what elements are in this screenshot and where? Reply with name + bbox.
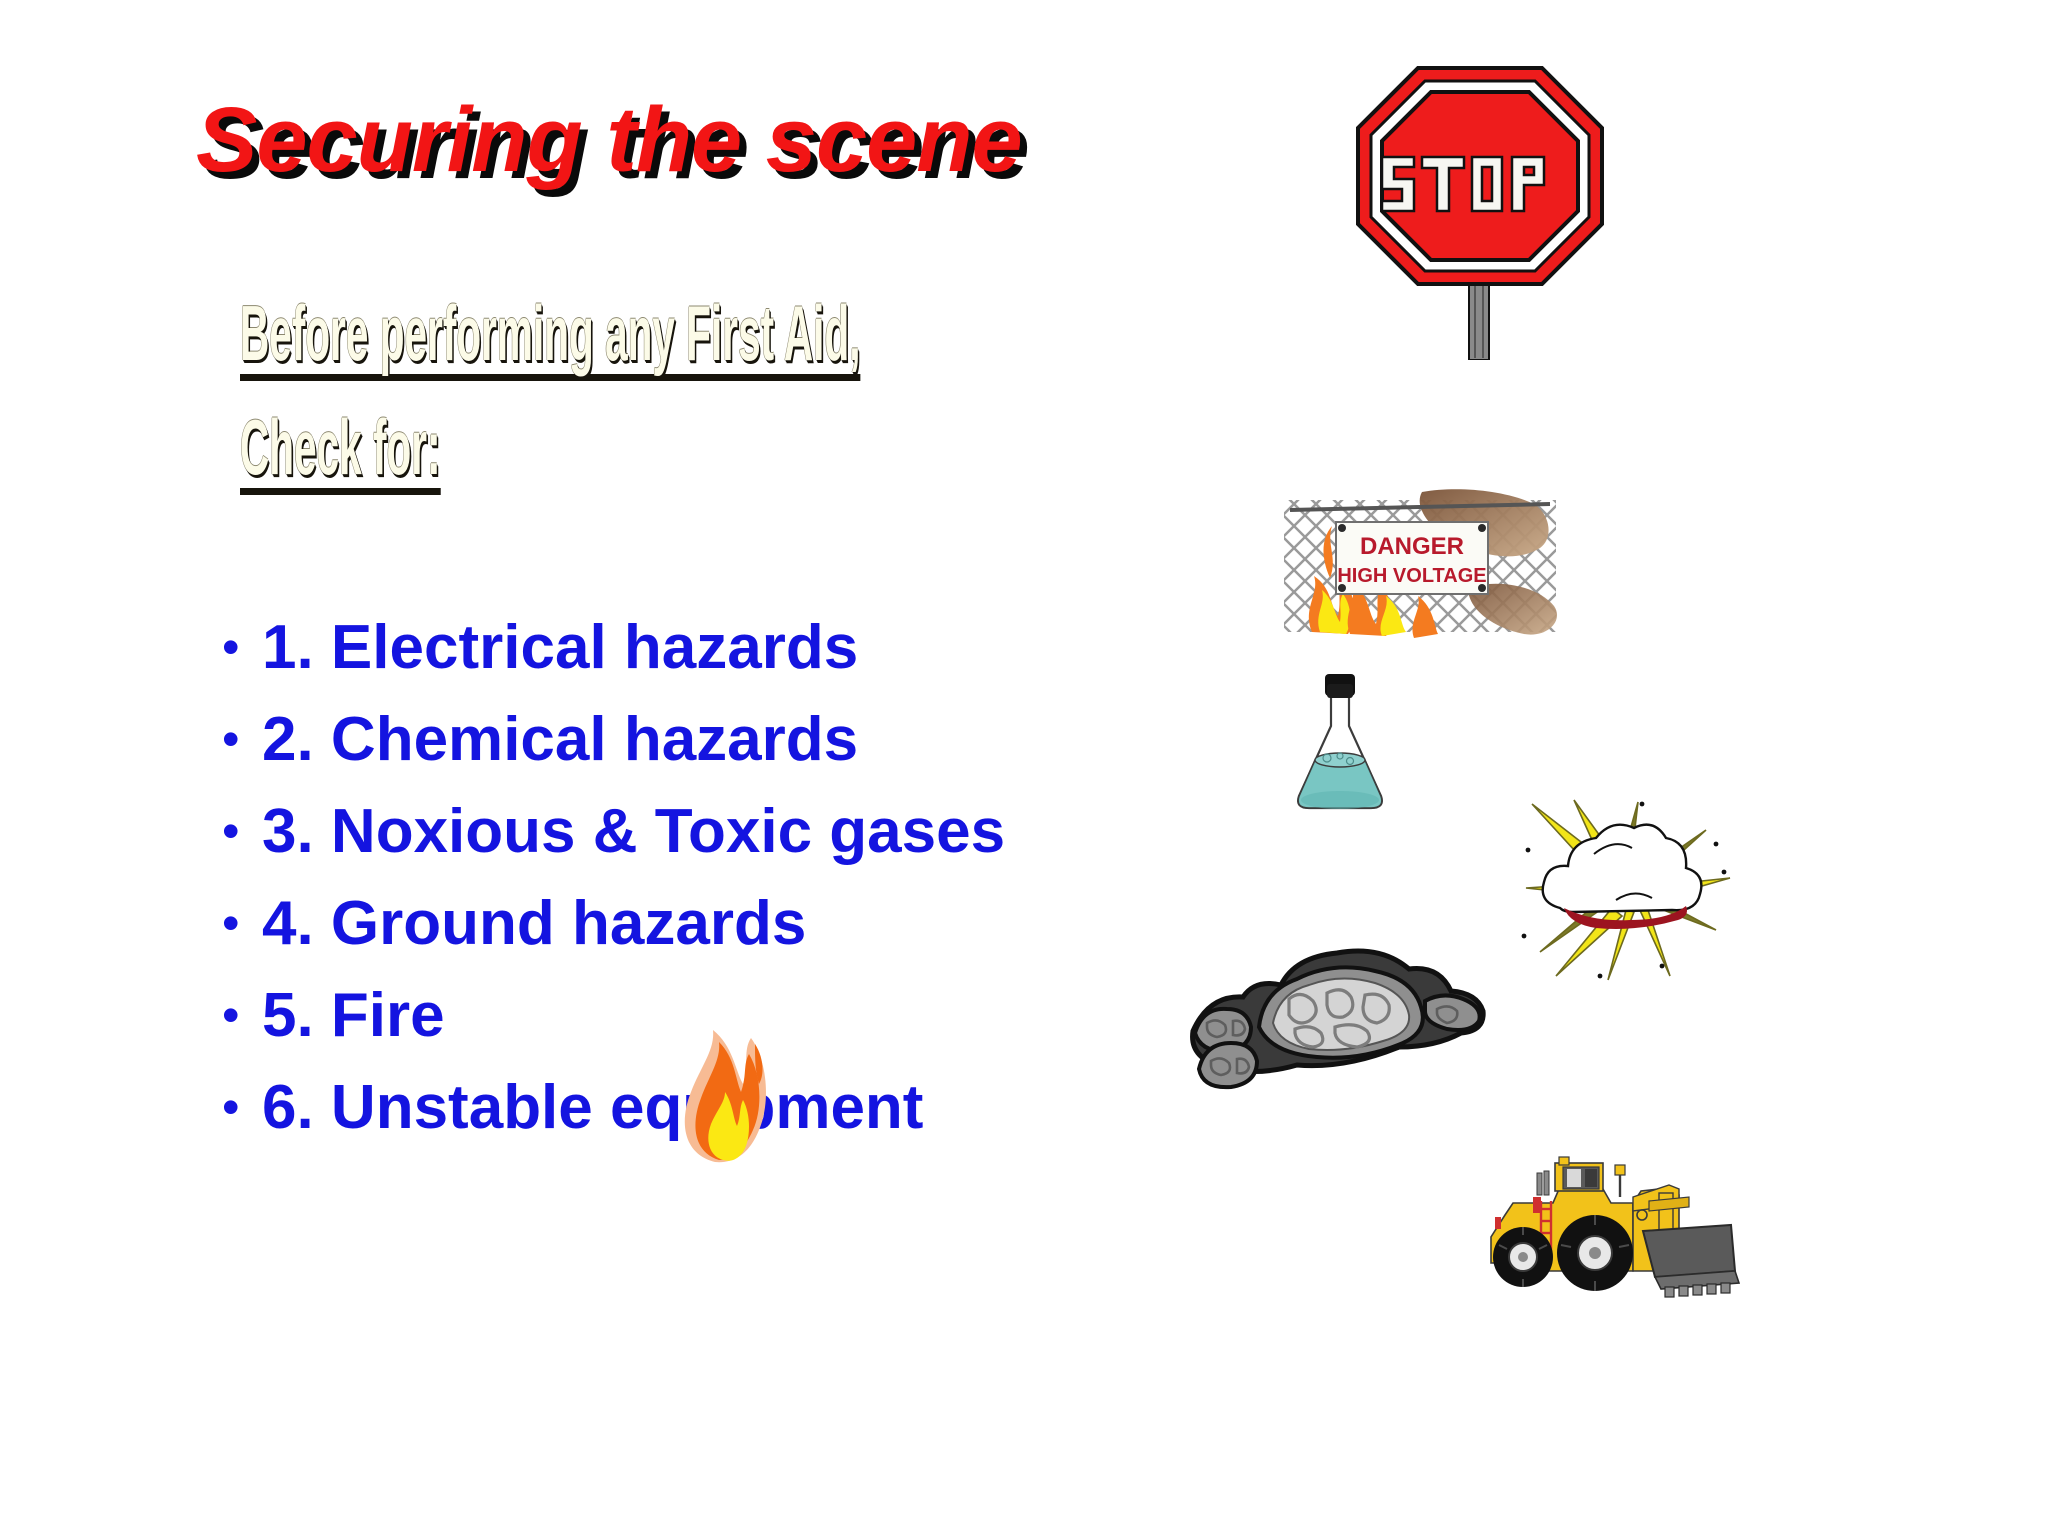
slide-canvas: Securing the scene Before performing any… <box>0 0 2048 1536</box>
subheading-line-1: Before performing any First Aid, <box>240 294 861 381</box>
wheel-loader-icon <box>1483 1145 1768 1305</box>
ground-hazard-rocks-icon <box>1185 935 1495 1095</box>
list-item: • 2. Chemical hazards <box>222 704 1262 796</box>
list-item-label: 3. Noxious & Toxic gases <box>262 796 1005 867</box>
bullet-dot-icon: • <box>222 990 262 1040</box>
bullet-dot-icon: • <box>222 898 262 948</box>
list-item-label: 6. Unstable equipment <box>262 1072 923 1143</box>
danger-line-2: HIGH VOLTAGE <box>1337 565 1486 587</box>
list-item-label: 2. Chemical hazards <box>262 704 858 775</box>
list-item-label: 4. Ground hazards <box>262 888 806 959</box>
list-item: • 1. Electrical hazards <box>222 612 1262 704</box>
list-item: • 3. Noxious & Toxic gases <box>222 796 1262 888</box>
fire-flame-icon <box>663 1030 778 1165</box>
stop-sign-icon <box>1330 40 1630 360</box>
danger-line-1: DANGER <box>1360 533 1464 560</box>
bullet-dot-icon: • <box>222 622 262 672</box>
bullet-dot-icon: • <box>222 1082 262 1132</box>
list-item-label: 1. Electrical hazards <box>262 612 858 683</box>
subheading-line-2: Check for: <box>240 408 441 495</box>
toxic-gas-cloud-icon <box>1520 790 1740 985</box>
danger-high-voltage-icon: DANGER HIGH VOLTAGE <box>1272 482 1572 652</box>
chemical-flask-icon <box>1285 668 1395 818</box>
bullet-dot-icon: • <box>222 714 262 764</box>
page-title: Securing the scene <box>196 88 1022 193</box>
bullet-dot-icon: • <box>222 806 262 856</box>
list-item: • 4. Ground hazards <box>222 888 1262 980</box>
list-item-label: 5. Fire <box>262 980 445 1051</box>
